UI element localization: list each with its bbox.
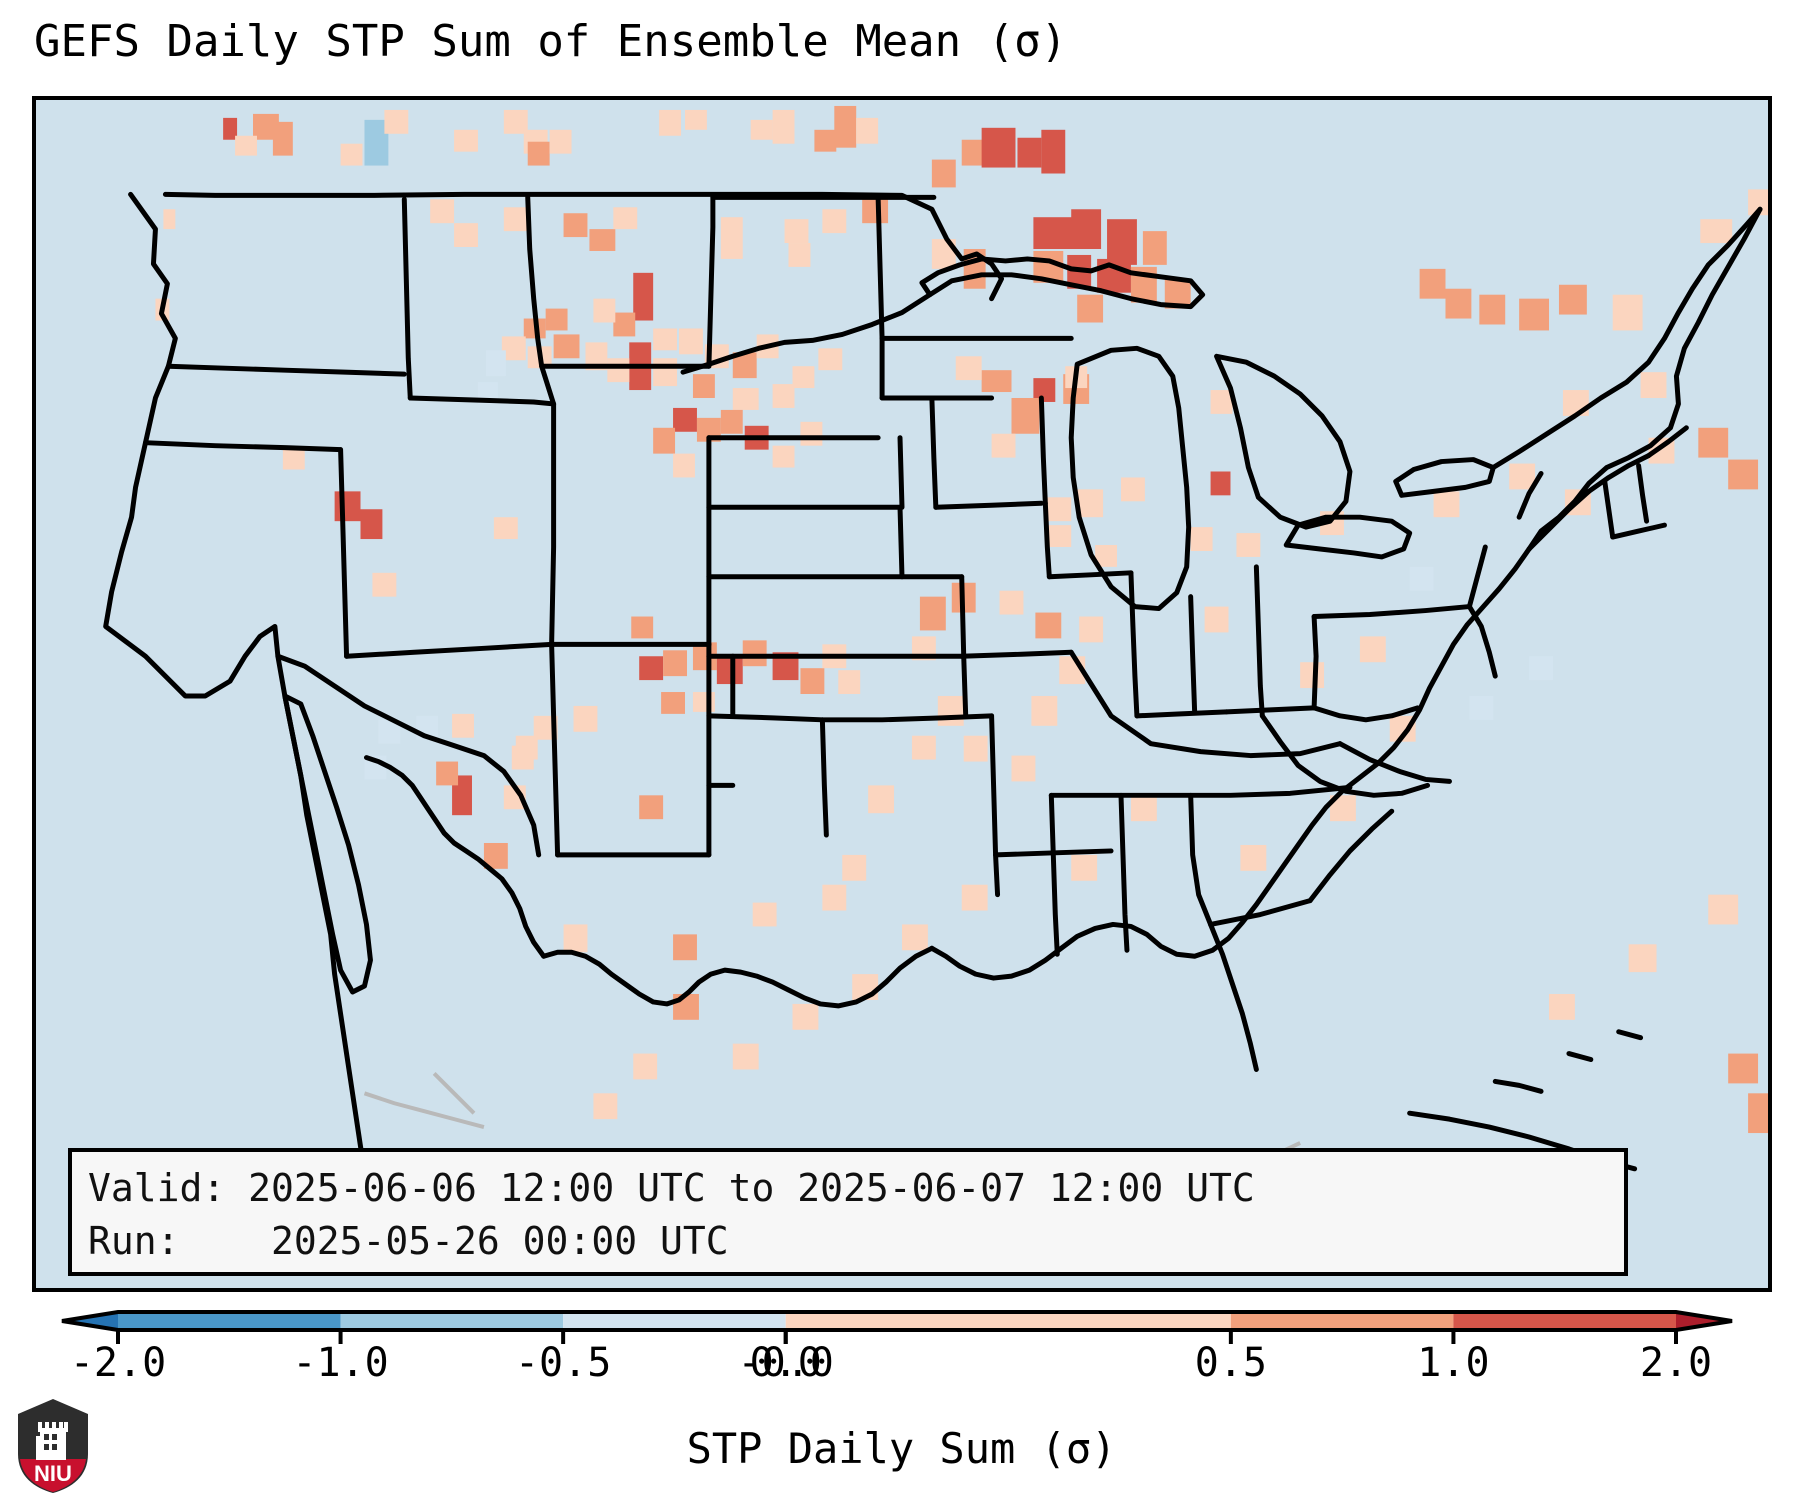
stp-cell (693, 374, 715, 398)
stp-cell (673, 994, 699, 1020)
stp-cell (223, 118, 237, 140)
colorbar-tick-label: -1.0 (292, 1340, 388, 1386)
stp-cell (1121, 477, 1145, 501)
ocean-background (36, 100, 1768, 1288)
stp-cell (235, 136, 257, 156)
stp-cell (593, 1093, 617, 1119)
stp-cell (1728, 1054, 1758, 1084)
stp-cell (679, 328, 703, 354)
stp-cell (818, 348, 842, 370)
stp-cell (743, 640, 767, 666)
colorbar-ticks: -2.0-1.0-0.5-0.00.00.51.02.0 (0, 1340, 1803, 1400)
stp-cell (663, 650, 687, 676)
stp-cell (693, 692, 715, 712)
stp-cell (384, 110, 408, 134)
stp-cell (454, 223, 478, 247)
stp-cell (659, 110, 681, 136)
stp-cell (564, 924, 588, 952)
stp-cell (773, 384, 795, 408)
stp-cell (1613, 295, 1643, 331)
stp-cell (454, 130, 478, 152)
stp-cell (1434, 491, 1460, 517)
stp-cell (1047, 497, 1071, 521)
stp-cell (633, 1054, 657, 1080)
colorbar-tick-label: 0.0 (750, 1340, 822, 1386)
stp-cell (1420, 269, 1446, 299)
stp-cell (1708, 895, 1738, 925)
stp-cell (773, 446, 795, 468)
stp-cell (1071, 209, 1101, 249)
stp-cell (564, 213, 588, 237)
map-panel[interactable] (32, 96, 1772, 1292)
stp-cell (1097, 259, 1131, 293)
stp-cell (574, 706, 598, 732)
stp-cell (822, 209, 846, 233)
stp-cell (546, 309, 568, 331)
stp-cell (273, 122, 293, 156)
colorbar-segment (341, 1312, 564, 1330)
stp-cell (516, 736, 538, 760)
stp-cell (372, 573, 396, 597)
stp-cell (912, 736, 936, 760)
stp-cell (361, 509, 383, 539)
stp-cell (1529, 656, 1553, 680)
stp-cell (773, 110, 795, 144)
stp-cell (964, 736, 988, 762)
stp-cell (589, 229, 615, 251)
stp-cell (1000, 591, 1024, 615)
stp-cell (1011, 756, 1035, 782)
stp-cell (1047, 525, 1071, 547)
stp-cell (842, 855, 866, 881)
colorbar-tick-label: -0.5 (515, 1340, 611, 1386)
colorbar-segment (118, 1312, 341, 1330)
stp-cell (673, 408, 697, 432)
map-canvas (36, 100, 1768, 1288)
stp-cell (1211, 471, 1231, 495)
stp-cell (593, 299, 615, 323)
stp-cell (962, 885, 988, 911)
stp-cell (1079, 617, 1103, 643)
stp-cell (1240, 845, 1266, 871)
stp-cell (793, 1004, 819, 1030)
stp-cell (653, 328, 677, 350)
stp-cell (685, 110, 707, 130)
colorbar-tick-label: 0.5 (1195, 1340, 1267, 1386)
stp-cell (1143, 231, 1167, 265)
forecast-info-box: Valid: 2025-06-06 12:00 UTC to 2025-06-0… (68, 1148, 1628, 1276)
stp-cell (673, 934, 697, 960)
stp-cell (1559, 285, 1587, 315)
stp-cell (1300, 662, 1324, 688)
stp-cell (1629, 944, 1657, 972)
stp-cell (653, 428, 675, 454)
stp-cell (1077, 489, 1103, 517)
colorbar-tick-label: 2.0 (1640, 1340, 1712, 1386)
stp-cell (1641, 372, 1667, 398)
stp-cell (163, 209, 175, 229)
stp-cell (721, 410, 743, 434)
colorbar-label: STP Daily Sum (σ) (0, 1424, 1803, 1473)
stp-cell (1236, 533, 1260, 557)
stp-cell (607, 358, 629, 382)
stp-cell (639, 795, 663, 819)
stp-cell (1205, 607, 1229, 633)
valid-time-line: Valid: 2025-06-06 12:00 UTC to 2025-06-0… (88, 1162, 1608, 1215)
stp-cell (992, 434, 1016, 458)
stp-cell (1700, 219, 1732, 243)
stp-cell (793, 366, 815, 388)
stp-cell (838, 670, 860, 694)
stp-cell (814, 130, 836, 152)
stp-cell (800, 668, 824, 694)
stp-cell (856, 118, 878, 144)
stp-cell (868, 785, 894, 813)
stp-cell (902, 924, 928, 950)
stp-cell (653, 358, 677, 386)
stp-cell (1035, 613, 1061, 639)
stp-cell (613, 207, 637, 229)
stp-cell (962, 140, 984, 166)
stp-cell (1698, 428, 1728, 458)
stp-cell (335, 491, 361, 521)
stp-cell (982, 128, 1016, 168)
stp-cell (1017, 138, 1041, 168)
stp-cell (550, 130, 572, 154)
stp-cell (1410, 567, 1434, 591)
stp-cell (486, 350, 506, 376)
stp-cell (1728, 460, 1758, 490)
stp-cell (1445, 289, 1471, 319)
stp-cell (430, 199, 454, 223)
stp-cell (1041, 130, 1065, 174)
stp-cell (1479, 295, 1505, 325)
stp-cell (751, 120, 773, 140)
colorbar-segment (563, 1312, 786, 1330)
niu-logo: NIU (14, 1396, 92, 1496)
stp-cell (554, 334, 580, 358)
stp-cell (1519, 299, 1549, 331)
stp-cell (494, 517, 518, 539)
stp-cell (1360, 636, 1386, 662)
stp-cell (639, 656, 663, 680)
stp-cell (1107, 219, 1137, 265)
stp-cell (717, 656, 743, 684)
stp-cell (1077, 295, 1103, 323)
colorbar-tick-label: 1.0 (1417, 1340, 1489, 1386)
stp-cell (834, 106, 856, 148)
colorbar-segment (1231, 1312, 1454, 1330)
stp-cell (1211, 390, 1233, 414)
niu-logo-text: NIU (34, 1461, 72, 1486)
colorbar-segment (1453, 1312, 1676, 1330)
stp-cell (436, 762, 458, 786)
stp-cell (661, 692, 685, 714)
stp-cell (789, 243, 811, 267)
stp-cell (283, 450, 305, 470)
stp-cell (862, 199, 888, 223)
stp-cell (1131, 795, 1157, 821)
colorbar-tick-label: -2.0 (70, 1340, 166, 1386)
stp-cell (785, 219, 809, 243)
stp-cell (631, 617, 653, 639)
stp-cell (733, 388, 759, 410)
stp-cell (673, 454, 695, 478)
stp-cell (920, 597, 946, 631)
stp-cell (341, 144, 363, 166)
stp-cell (613, 313, 635, 337)
stp-cell (504, 207, 528, 231)
stp-cell (633, 273, 653, 321)
stp-cell (721, 217, 743, 259)
stp-cell (932, 160, 956, 188)
stp-cell (1748, 1093, 1768, 1133)
stp-cell (528, 142, 550, 166)
stp-cell (1191, 527, 1213, 551)
stp-cell (800, 422, 822, 446)
stp-cell (1549, 994, 1575, 1020)
page-title: GEFS Daily STP Sum of Ensemble Mean (σ) (34, 16, 1067, 67)
stp-cell (753, 903, 777, 927)
stp-cell (1011, 398, 1039, 434)
stp-cell (1469, 696, 1493, 720)
stp-cell (1071, 855, 1097, 881)
stp-cell (1563, 390, 1589, 416)
stp-cell (822, 885, 846, 911)
stp-cell (982, 370, 1012, 392)
colorbar-segment (786, 1312, 1231, 1330)
stp-cell (956, 356, 982, 380)
run-time-line: Run: 2025-05-26 00:00 UTC (88, 1215, 1608, 1268)
stp-cell (452, 714, 474, 738)
stp-cell (938, 696, 964, 726)
stp-cell (733, 1044, 759, 1070)
stp-cell (1031, 696, 1057, 726)
